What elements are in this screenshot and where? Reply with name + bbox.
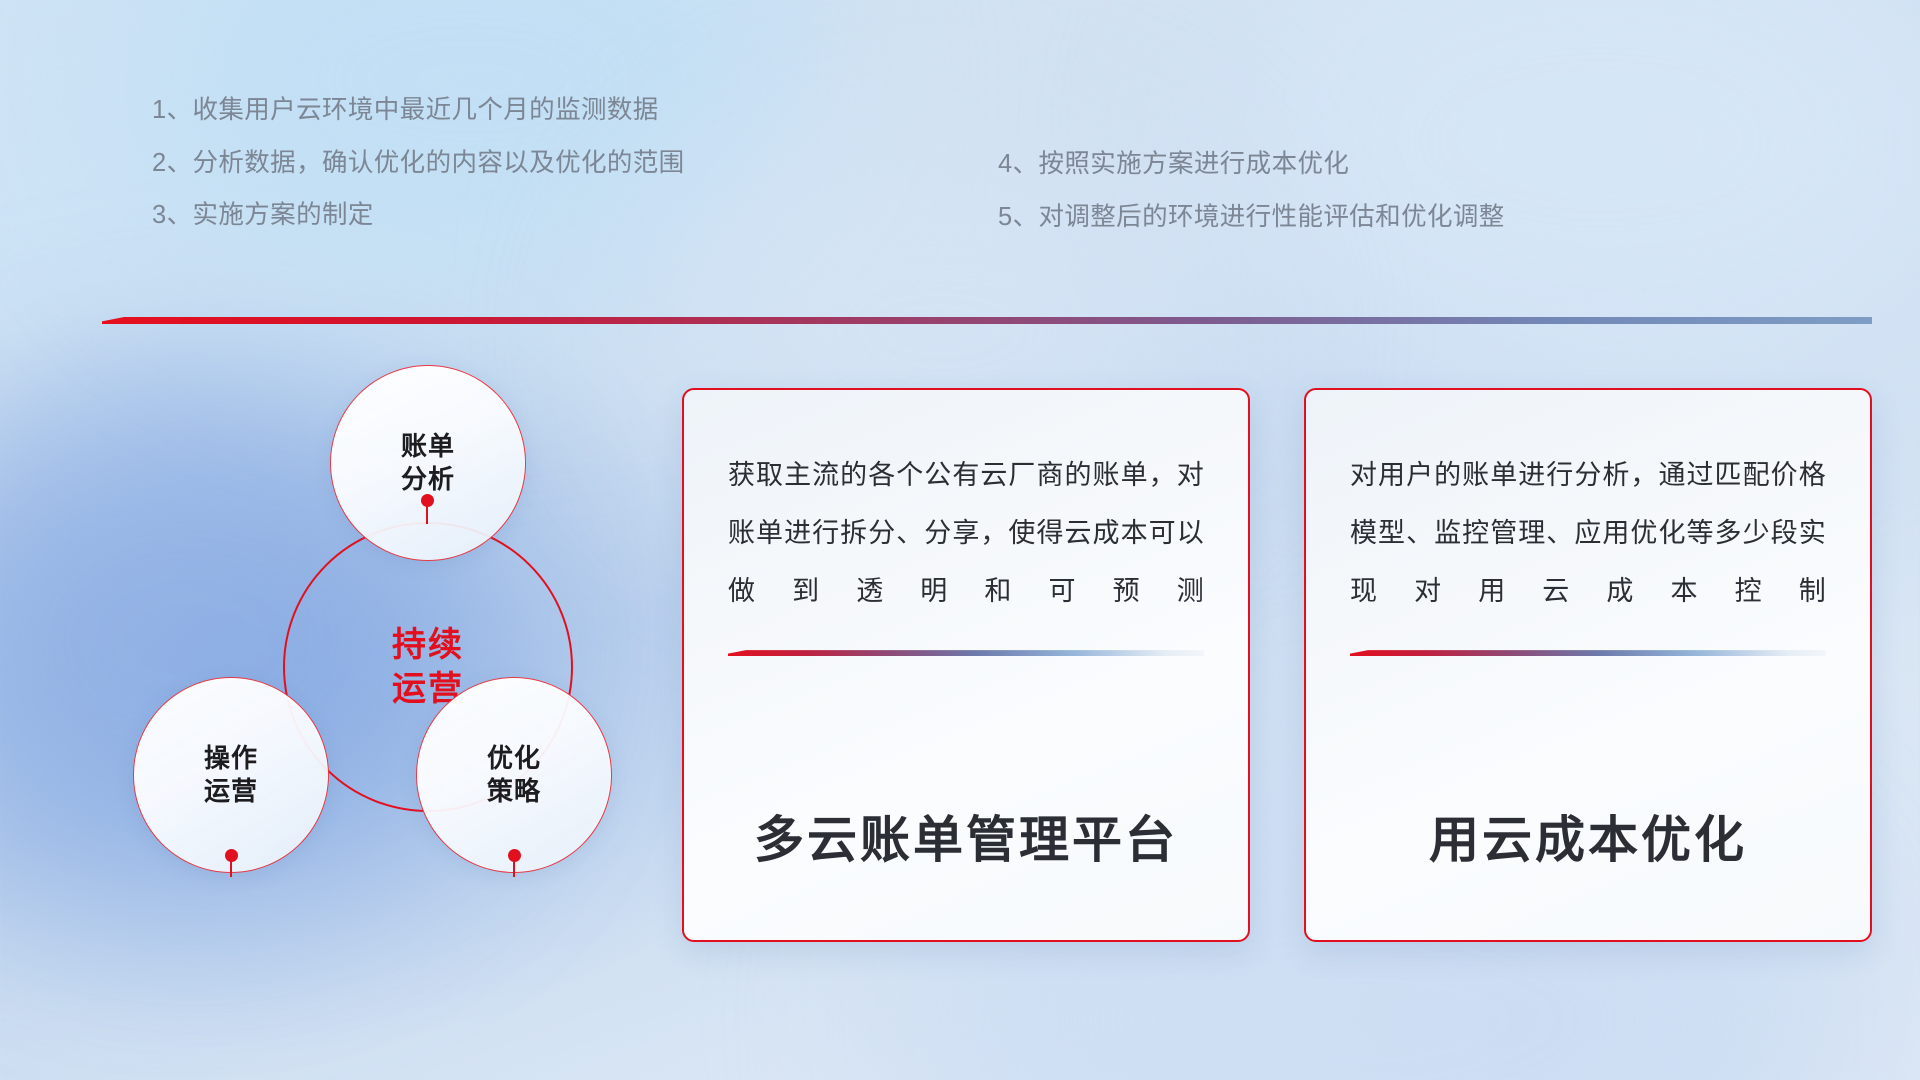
card-cloud-cost-optimization[interactable]: 对用户的账单进行分析，通过匹配价格模型、监控管理、应用优化等多少段实现对用云成本… [1304, 388, 1872, 942]
step-item-2: 2、分析数据，确认优化的内容以及优化的范围 [152, 151, 685, 177]
step-item-5: 5、对调整后的环境进行性能评估和优化调整 [998, 205, 1505, 231]
step-item-1: 1、收集用户云环境中最近几个月的监测数据 [152, 98, 685, 124]
steps-list-right: 4、按照实施方案进行成本优化 5、对调整后的环境进行性能评估和优化调整 [998, 152, 1505, 257]
bubble-top-line1: 账单 [401, 430, 455, 463]
center-label-line1: 持续 [392, 623, 464, 667]
card-1-title: 多云账单管理平台 [728, 800, 1204, 872]
card-multicloud-billing-platform[interactable]: 获取主流的各个公有云厂商的账单，对账单进行拆分、分享，使得云成本可以做到透明和可… [682, 388, 1250, 942]
connector-dot-right [508, 849, 521, 862]
section-divider-rule [102, 317, 1872, 324]
step-item-3: 3、实施方案的制定 [152, 203, 685, 229]
card-2-body-text: 对用户的账单进行分析，通过匹配价格模型、监控管理、应用优化等多少段实现对用云成本… [1350, 446, 1826, 620]
continuous-operations-diagram: 持续 运营 账单 分析 操作 运营 优化 策略 [98, 352, 628, 952]
card-1-divider-rule [728, 650, 1204, 656]
bubble-left-line1: 操作 [204, 742, 258, 775]
card-2-title: 用云成本优化 [1350, 800, 1826, 872]
bubble-top-line2: 分析 [401, 463, 455, 496]
bubble-bill-analysis[interactable]: 账单 分析 [330, 365, 526, 561]
connector-dot-left [225, 849, 238, 862]
bubble-right-line1: 优化 [487, 742, 541, 775]
card-2-divider-rule [1350, 650, 1826, 656]
bubble-right-line2: 策略 [487, 775, 541, 808]
steps-list-left: 1、收集用户云环境中最近几个月的监测数据 2、分析数据，确认优化的内容以及优化的… [152, 98, 685, 256]
card-1-body-text: 获取主流的各个公有云厂商的账单，对账单进行拆分、分享，使得云成本可以做到透明和可… [728, 446, 1204, 620]
bubble-left-line2: 运营 [204, 775, 258, 808]
bubble-optimization-strategy[interactable]: 优化 策略 [416, 677, 612, 873]
connector-dot-top [421, 494, 434, 507]
bubble-operations[interactable]: 操作 运营 [133, 677, 329, 873]
connector-tick-top [426, 504, 428, 524]
step-item-4: 4、按照实施方案进行成本优化 [998, 152, 1505, 178]
